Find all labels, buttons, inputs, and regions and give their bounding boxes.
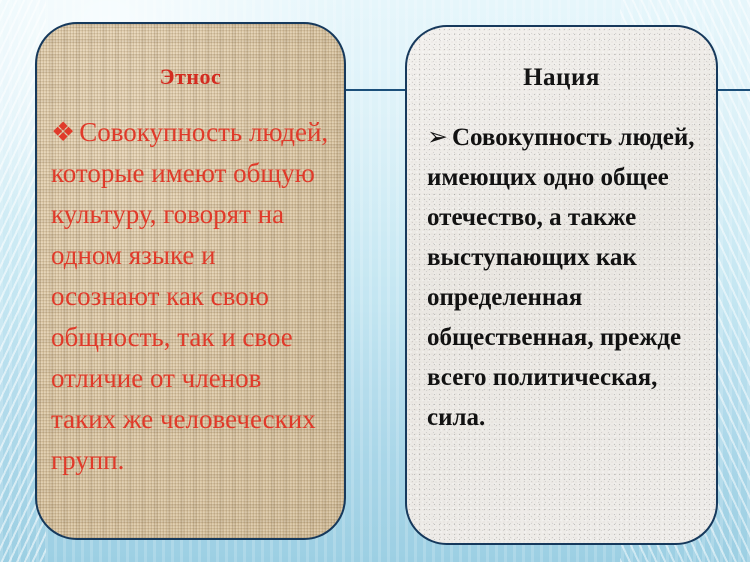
- card-ethnos-body-text: Совокупность людей, которые имеют общую …: [51, 117, 328, 475]
- card-nation-body: ➢Совокупность людей, имеющих одно общее …: [407, 118, 716, 438]
- card-nation-body-text: Совокупность людей, имеющих одно общее о…: [427, 124, 695, 431]
- slide-canvas: Этнос ❖Совокупность людей, которые имеют…: [0, 0, 750, 562]
- card-ethnos: Этнос ❖Совокупность людей, которые имеют…: [35, 22, 346, 540]
- card-nation-title: Нация: [407, 64, 716, 92]
- card-nation: Нация ➢Совокупность людей, имеющих одно …: [405, 25, 718, 545]
- card-ethnos-inner: Этнос ❖Совокупность людей, которые имеют…: [37, 64, 344, 540]
- card-ethnos-title: Этнос: [37, 64, 344, 90]
- arrowhead-bullet-icon: ➢: [427, 124, 448, 151]
- card-nation-inner: Нация ➢Совокупность людей, имеющих одно …: [407, 64, 716, 545]
- card-ethnos-body: ❖Совокупность людей, которые имеют общую…: [37, 112, 344, 481]
- diamond-floret-bullet-icon: ❖: [51, 117, 75, 147]
